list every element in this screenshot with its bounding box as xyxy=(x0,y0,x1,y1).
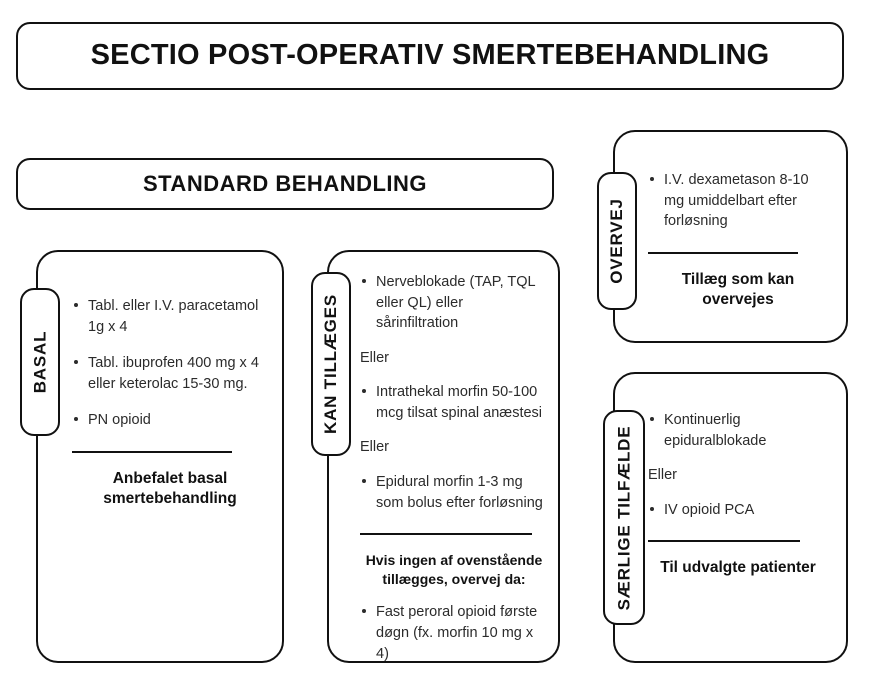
list-item: Tabl. ibuprofen 400 mg x 4 eller keterol… xyxy=(72,353,268,394)
list-item: Kontinuerlig epiduralblokade xyxy=(648,410,828,451)
overvej-tab: OVERVEJ xyxy=(597,172,637,310)
kan-tillaeges-tab: KAN TILLÆGES xyxy=(311,272,351,456)
list-item: Fast peroral opioid første døgn (fx. mor… xyxy=(360,602,548,664)
overvej-tab-label: OVERVEJ xyxy=(607,198,627,284)
saerlige-bullet-list-1: Kontinuerlig epiduralblokade xyxy=(648,410,828,451)
list-item: Intrathekal morfin 50-100 mcg tilsat spi… xyxy=(360,382,548,423)
main-title-banner: SECTIO POST-OPERATIV SMERTEBEHANDLING xyxy=(16,22,844,90)
saerlige-divider xyxy=(648,540,800,542)
kan-eller-2: Eller xyxy=(360,437,548,458)
saerlige-conclusion: Til udvalgte patienter xyxy=(648,558,828,578)
saerlige-tilfaelde-tab: SÆRLIGE TILFÆLDE xyxy=(603,410,645,625)
basal-bullet-list: Tabl. eller I.V. paracetamol 1g x 4 Tabl… xyxy=(72,296,268,431)
list-item: Tabl. eller I.V. paracetamol 1g x 4 xyxy=(72,296,268,337)
overvej-content: I.V. dexametason 8-10 mg umiddelbart eft… xyxy=(648,170,828,310)
kan-tillaeges-tab-label: KAN TILLÆGES xyxy=(321,294,341,434)
kan-divider xyxy=(360,533,532,535)
kan-bullet-list-1: Nerveblokade (TAP, TQL eller QL) eller s… xyxy=(360,272,548,334)
overvej-conclusion: Tillæg som kan overvejes xyxy=(648,270,828,310)
basal-conclusion: Anbefalet basal smertebehandling xyxy=(72,469,268,509)
kan-eller-1: Eller xyxy=(360,348,548,369)
kan-tillaeges-content: Nerveblokade (TAP, TQL eller QL) eller s… xyxy=(360,272,548,664)
standard-treatment-banner: STANDARD BEHANDLING xyxy=(16,158,554,210)
list-item: PN opioid xyxy=(72,410,268,431)
basal-divider xyxy=(72,451,232,453)
infographic-root: SECTIO POST-OPERATIV SMERTEBEHANDLING ST… xyxy=(0,0,870,694)
list-item: Epidural morfin 1-3 mg som bolus efter f… xyxy=(360,472,548,513)
saerlige-bullet-list-2: IV opioid PCA xyxy=(648,500,828,521)
list-item: I.V. dexametason 8-10 mg umiddelbart eft… xyxy=(648,170,828,232)
kan-bullet-list-3: Epidural morfin 1-3 mg som bolus efter f… xyxy=(360,472,548,513)
kan-bullet-list-2: Intrathekal morfin 50-100 mcg tilsat spi… xyxy=(360,382,548,423)
basal-content: Tabl. eller I.V. paracetamol 1g x 4 Tabl… xyxy=(72,296,268,509)
overvej-bullet-list: I.V. dexametason 8-10 mg umiddelbart eft… xyxy=(648,170,828,232)
basal-tab: BASAL xyxy=(20,288,60,436)
page-title: SECTIO POST-OPERATIV SMERTEBEHANDLING xyxy=(91,40,770,72)
list-item: Nerveblokade (TAP, TQL eller QL) eller s… xyxy=(360,272,548,334)
kan-bullet-list-4: Fast peroral opioid første døgn (fx. mor… xyxy=(360,602,548,664)
standard-treatment-title: STANDARD BEHANDLING xyxy=(143,172,427,196)
overvej-divider xyxy=(648,252,798,254)
saerlige-tilfaelde-content: Kontinuerlig epiduralblokade Eller IV op… xyxy=(648,410,828,578)
list-item: IV opioid PCA xyxy=(648,500,828,521)
kan-subheading: Hvis ingen af ovenstående tillægges, ove… xyxy=(360,551,548,588)
saerlige-eller-1: Eller xyxy=(648,465,828,486)
saerlige-tilfaelde-tab-label: SÆRLIGE TILFÆLDE xyxy=(614,425,634,610)
basal-tab-label: BASAL xyxy=(30,331,50,394)
